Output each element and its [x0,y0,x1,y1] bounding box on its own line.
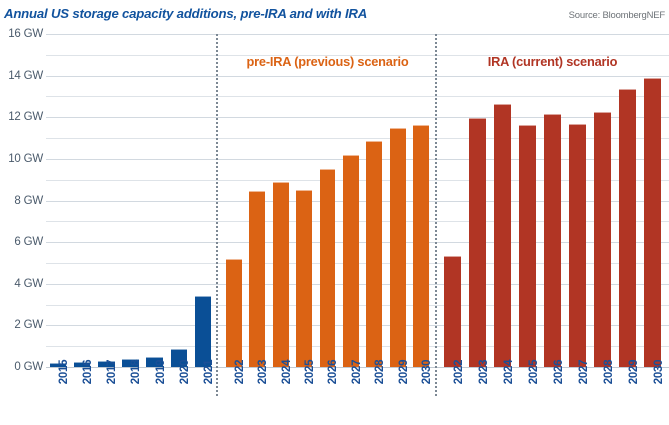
x-axis-label-slot: 2017 [94,370,118,422]
panel-ira: IRA (current) scenario [440,34,665,367]
page-title: Annual US storage capacity additions, pr… [4,6,367,21]
x-axis-label-slot: 2023 [245,370,268,422]
y-axis-tick-label: 12 GW [8,111,43,123]
x-axis-label-slot: 2027 [565,370,590,422]
x-axis-tick-label: 2021 [203,360,215,384]
x-axis-tick-label: 2026 [327,360,339,384]
source-attribution: Source: BloombergNEF [569,10,665,21]
bar[interactable] [619,89,636,367]
y-axis-tick-label: 6 GW [14,236,43,248]
bar-slot [245,34,268,367]
bar[interactable] [343,155,359,367]
bar[interactable] [594,112,611,367]
x-axis-tick-label: 2030 [421,360,433,384]
bar-slot [565,34,590,367]
x-axis-tick-label: 2023 [478,360,490,384]
x-axis-tick-label: 2027 [351,360,363,384]
bar[interactable] [569,124,586,368]
bar[interactable] [366,141,382,367]
panel-separator-1 [216,34,220,396]
x-axis-pre-ira: 202220232024202520262027202820292030 [222,370,433,422]
x-axis-tick-label: 2020 [179,360,191,384]
bar-slot [94,34,118,367]
bar-slot [316,34,339,367]
x-axis-label-slot: 2029 [615,370,640,422]
bar[interactable] [320,169,336,367]
bar[interactable] [413,125,429,367]
bar[interactable] [444,256,461,367]
bar-slot [410,34,433,367]
x-axis-tick-label: 2025 [528,360,540,384]
y-axis-tick-label: 0 GW [14,361,43,373]
bar[interactable] [273,182,289,367]
bar-slot [46,34,70,367]
chart-plot-area: 0 GW2 GW4 GW6 GW8 GW10 GW12 GW14 GW16 GW… [0,34,669,425]
x-axis-ira: 202220232024202520262027202820292030 [440,370,665,422]
x-axis-label-slot: 2022 [222,370,245,422]
y-axis-tick-label: 2 GW [14,319,43,331]
x-axis-tick-label: 2027 [578,360,590,384]
x-axis-tick-label: 2024 [281,360,293,384]
x-axis-tick-label: 2022 [453,360,465,384]
x-axis-label-slot: 2024 [269,370,292,422]
x-axis-tick-label: 2024 [503,360,515,384]
x-axis-label-slot: 2030 [640,370,665,422]
x-axis-label-slot: 2019 [143,370,167,422]
x-axis-tick-label: 2028 [374,360,386,384]
y-axis-tick-label: 10 GW [8,153,43,165]
bar[interactable] [226,259,242,367]
x-axis-tick-label: 2029 [398,360,410,384]
panel-separator-2 [435,34,439,396]
y-axis-tick-label: 4 GW [14,278,43,290]
x-axis-historical: 2015201620172018201920202021 [46,370,215,422]
x-axis-label-slot: 2025 [515,370,540,422]
bar-slot [269,34,292,367]
bar-slot [222,34,245,367]
x-axis-label-slot: 2023 [465,370,490,422]
x-axis-label-slot: 2018 [118,370,142,422]
bar-slot [615,34,640,367]
x-axis-label-slot: 2015 [46,370,70,422]
x-axis-label-slot: 2030 [410,370,433,422]
bar[interactable] [296,190,312,367]
y-axis: 0 GW2 GW4 GW6 GW8 GW10 GW12 GW14 GW16 GW [0,34,46,367]
panel-pre-ira: pre-IRA (previous) scenario [222,34,433,367]
bar-slot [70,34,94,367]
bar-slot [590,34,615,367]
x-axis-label-slot: 2028 [590,370,615,422]
x-axis-label-slot: 2016 [70,370,94,422]
x-axis-tick-label: 2018 [130,360,142,384]
bar[interactable] [544,114,561,367]
bar-slot [363,34,386,367]
x-axis-label-slot: 2026 [540,370,565,422]
bar-slot [167,34,191,367]
x-axis-label-slot: 2029 [386,370,409,422]
x-axis-label-slot: 2021 [191,370,215,422]
y-axis-tick-label: 14 GW [8,70,43,82]
x-axis-tick-label: 2017 [106,360,118,384]
bar-slot [292,34,315,367]
x-axis-tick-label: 2016 [82,360,94,384]
y-axis-tick-label: 16 GW [8,28,43,40]
x-axis-label-slot: 2024 [490,370,515,422]
bar-slot [465,34,490,367]
bar-group-pre-ira [222,34,433,367]
x-axis-tick-label: 2023 [257,360,269,384]
x-axis-tick-label: 2015 [58,360,70,384]
x-axis-tick-label: 2029 [628,360,640,384]
bar[interactable] [494,104,511,367]
x-axis-tick-label: 2025 [304,360,316,384]
bar[interactable] [644,78,661,367]
x-axis-label-slot: 2020 [167,370,191,422]
x-axis-label-slot: 2027 [339,370,362,422]
bar-slot [515,34,540,367]
bar-slot [143,34,167,367]
bar-slot [640,34,665,367]
x-axis-tick-label: 2030 [653,360,665,384]
bar-group-ira [440,34,665,367]
y-axis-tick-label: 8 GW [14,195,43,207]
bar-slot [490,34,515,367]
x-axis-label-slot: 2025 [292,370,315,422]
bar[interactable] [195,296,211,367]
bar-slot [440,34,465,367]
bar[interactable] [249,191,265,367]
bar[interactable] [390,128,406,367]
bar-slot [540,34,565,367]
x-axis-label-slot: 2028 [363,370,386,422]
bar[interactable] [469,118,486,367]
x-axis-tick-label: 2022 [234,360,246,384]
bar-slot [386,34,409,367]
panel-historical [46,34,215,367]
x-axis-tick-label: 2028 [603,360,615,384]
bar-slot [339,34,362,367]
x-axis-label-slot: 2026 [316,370,339,422]
bar[interactable] [519,125,536,367]
bar-group-historical [46,34,215,367]
bar-slot [191,34,215,367]
x-axis-tick-label: 2019 [155,360,167,384]
x-axis-tick-label: 2026 [553,360,565,384]
bar-slot [118,34,142,367]
x-axis-label-slot: 2022 [440,370,465,422]
chart-header: Annual US storage capacity additions, pr… [0,0,669,34]
